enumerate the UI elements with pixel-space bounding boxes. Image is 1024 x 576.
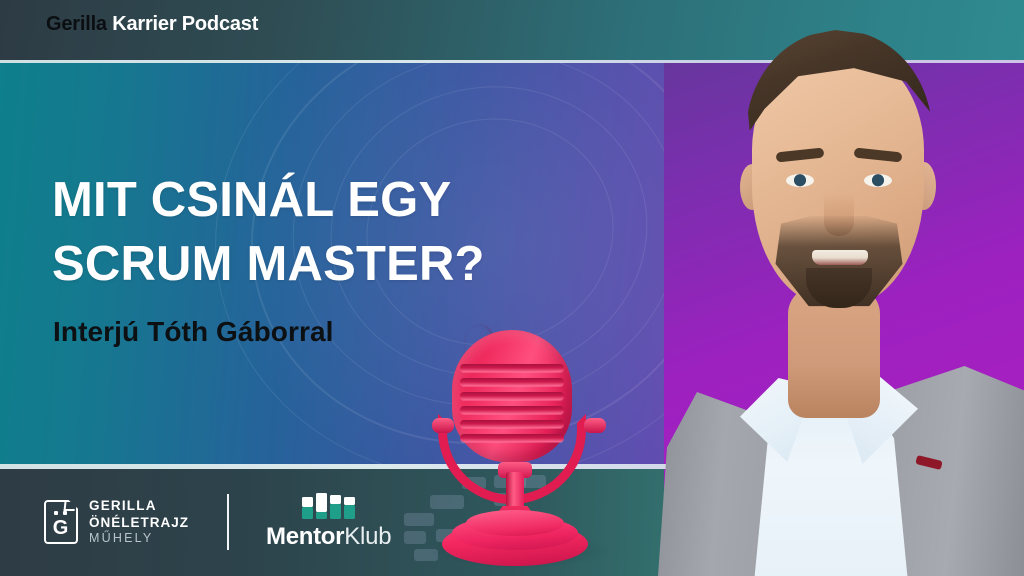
gerilla-line-3: MŰHELY [89,532,189,545]
mentor-wordmark: MentorKlub [266,523,391,551]
gerilla-line-1: GERILLA [89,499,189,513]
mark-bar-4 [344,505,355,519]
guest-portrait [620,0,1024,576]
mentor-word-bold: Mentor [266,523,344,550]
footer-logo-row: G GERILLA ÖNÉLETRAJZ MŰHELY MentorKlu [44,489,391,555]
mic-knob-right [584,418,606,433]
mic-knob-left [432,418,454,433]
document-g-icon: G [44,500,78,544]
mic-slat-1 [460,364,564,372]
logo-separator [227,494,229,550]
mentor-m-mark [302,493,356,519]
gerilla-wordmark: GERILLA ÖNÉLETRAJZ MŰHELY [89,499,189,545]
mic-base-inner [466,510,564,536]
title-line-2: SCRUM MASTER? [52,232,485,296]
podcast-thumbnail: MIT CSINÁL EGY SCRUM MASTER? Interjú Tót… [0,0,1024,576]
mark-bar-2b [316,493,327,512]
mark-bar-3 [330,504,341,519]
mouth [812,250,868,265]
header-brand-rest: Karrier Podcast [112,13,258,35]
eye-right [864,174,892,187]
gerilla-line-2: ÖNÉLETRAJZ [89,516,189,530]
document-fold-corner [64,502,76,511]
gerilla-logo[interactable]: G GERILLA ÖNÉLETRAJZ MŰHELY [44,499,189,545]
mark-bar-1 [302,507,313,519]
mic-slat-5 [460,420,564,428]
mic-grille [460,364,564,440]
mentor-klub-logo[interactable]: MentorKlub [266,493,391,551]
mic-neck [506,472,524,510]
mark-bar-1b [302,497,313,507]
mark-bar-3b [330,495,341,504]
mentor-word-light: Klub [344,523,391,550]
title-block: MIT CSINÁL EGY SCRUM MASTER? [52,168,485,296]
mic-slat-3 [460,392,564,400]
retro-microphone-icon [414,322,624,576]
header-brand-title: Gerilla Karrier Podcast [46,13,258,36]
mic-slat-2 [460,378,564,386]
gerilla-g-letter: G [50,517,72,539]
mic-slat-6 [460,434,564,442]
eye-left [786,174,814,187]
mark-bar-4b [344,497,355,505]
subtitle: Interjú Tóth Gáborral [53,316,334,348]
mark-bar-2 [316,512,327,519]
title-line-1: MIT CSINÁL EGY [52,168,485,232]
header-brand-word: Gerilla [46,13,107,35]
mic-slat-4 [460,406,564,414]
